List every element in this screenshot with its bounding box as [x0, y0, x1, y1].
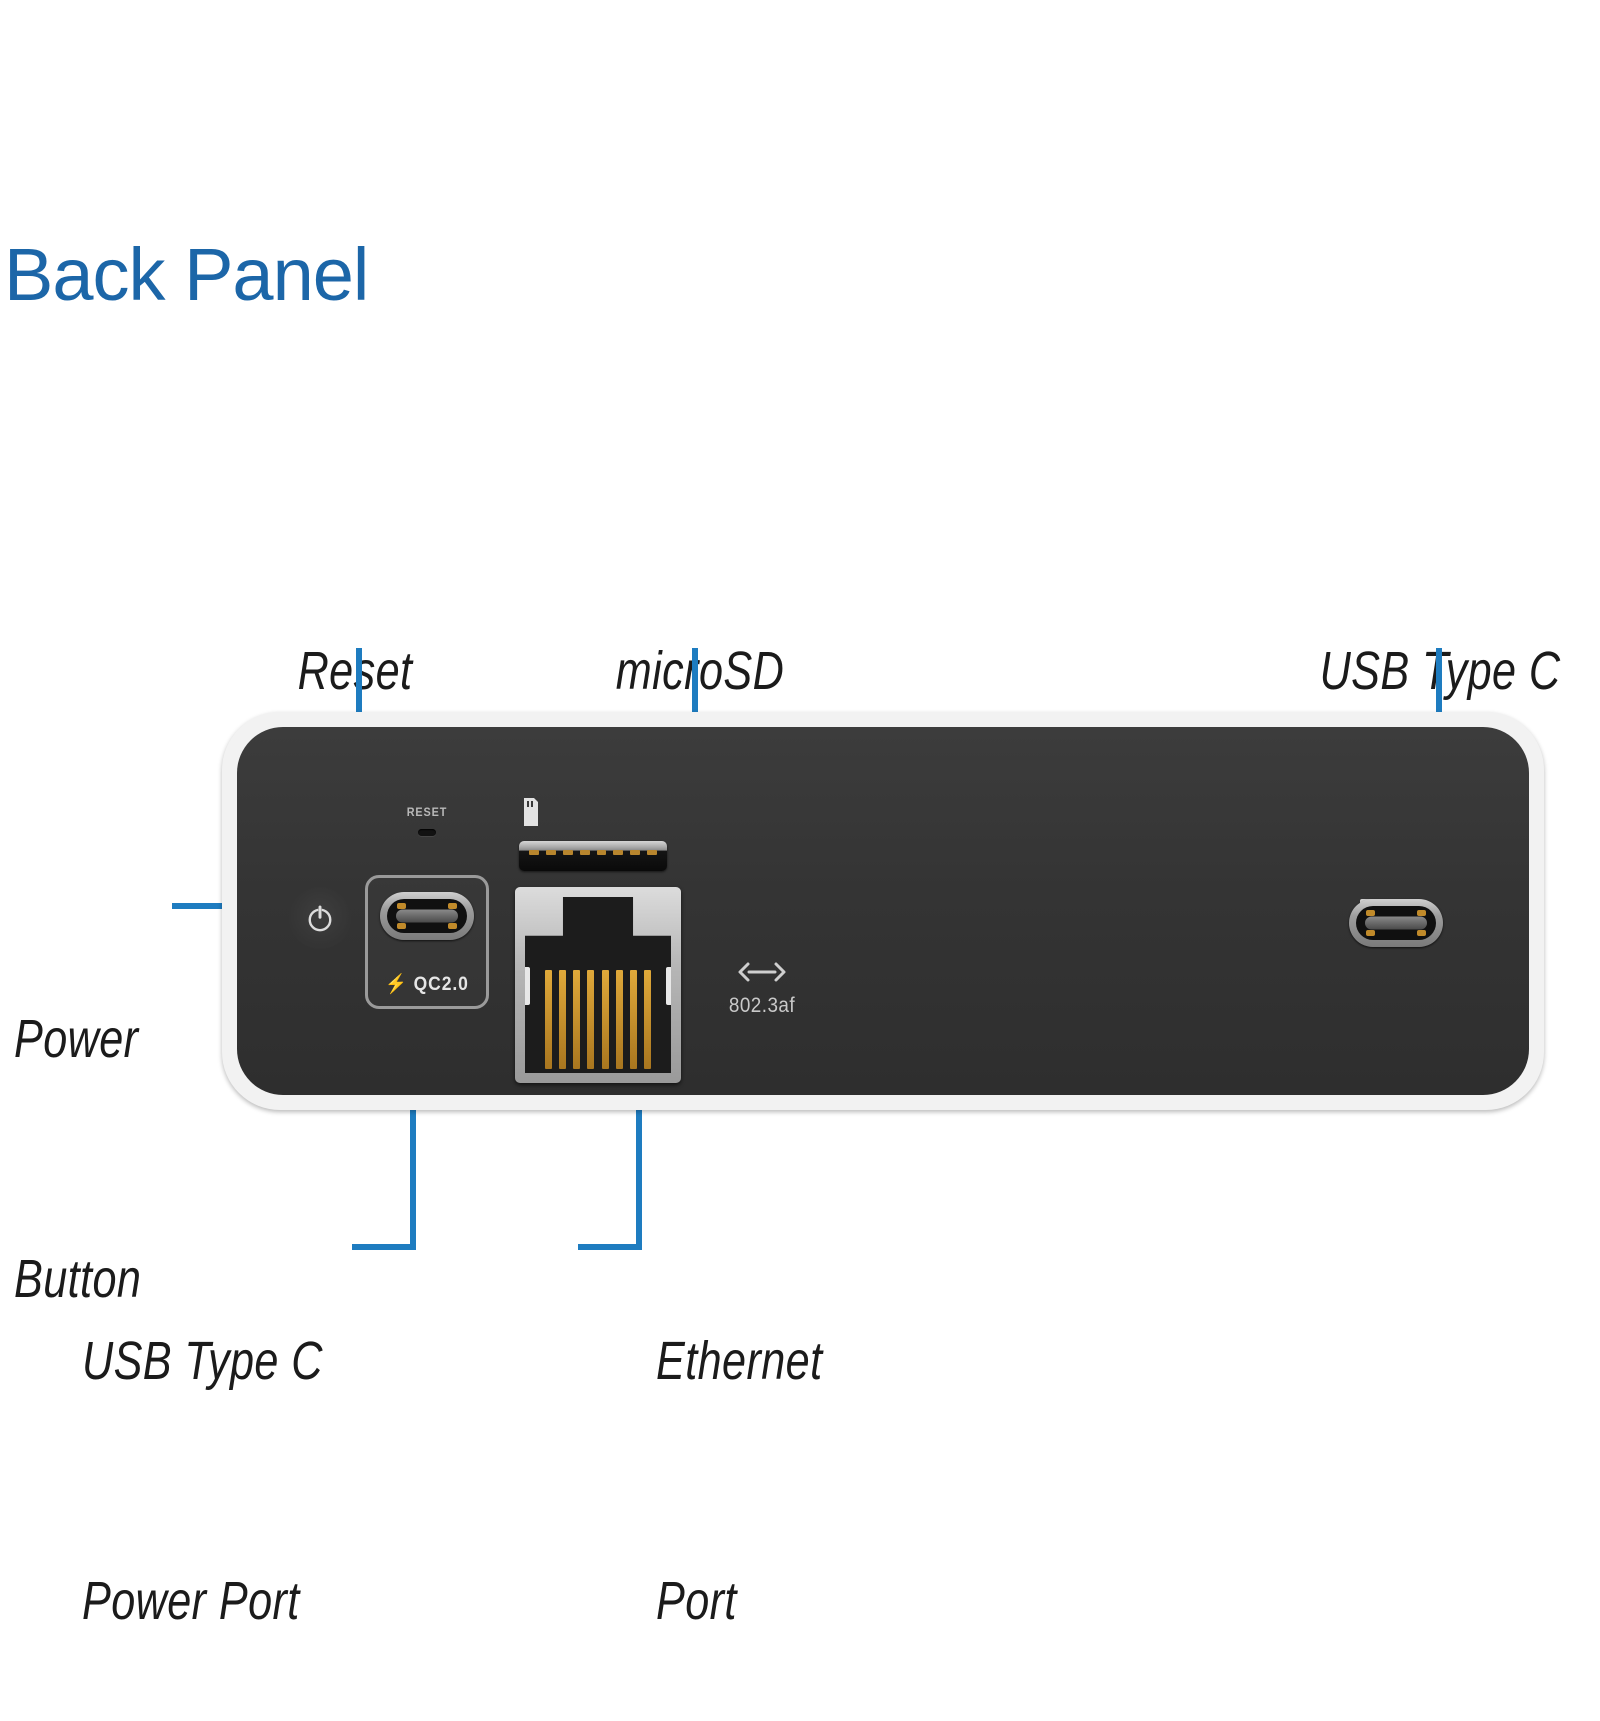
- usb-c-pin: [448, 923, 457, 929]
- usb-c-pin: [448, 903, 457, 909]
- callout-microsd-slot-line1: microSD: [564, 632, 836, 712]
- rj45-clip-notch: [521, 967, 530, 1005]
- device-back-panel: RESET ⚡ QC2.0: [222, 712, 1544, 1110]
- usb-c-tongue: [396, 910, 458, 923]
- rj45-contact-pins: [545, 970, 650, 1069]
- leader-line-usb-c-power-horizontal: [352, 1244, 416, 1250]
- rj45-cavity: [525, 897, 671, 1073]
- usb-c-pin: [1417, 930, 1426, 936]
- usb-c-data-shell: [1349, 899, 1443, 947]
- usb-c-power-port[interactable]: ⚡ QC2.0: [365, 875, 489, 1009]
- callout-reset-button-line1: Reset: [223, 632, 487, 712]
- callout-ethernet-port-line1: Ethernet: [656, 1322, 960, 1402]
- microsd-slot[interactable]: [519, 841, 667, 871]
- usb-c-power-marking: ⚡ QC2.0: [373, 972, 482, 996]
- poe-marking-group: 802.3af: [707, 959, 817, 1018]
- reset-group: RESET: [392, 805, 462, 836]
- reset-pinhole[interactable]: [418, 829, 436, 836]
- bidirectional-arrow-icon: [735, 959, 789, 985]
- usb-c-power-cavity: [387, 899, 467, 933]
- usb-c-pin: [1417, 910, 1426, 916]
- usb-c-power-shell: [380, 892, 474, 940]
- power-icon: [305, 903, 335, 933]
- usb-c-data-cavity: [1356, 906, 1436, 940]
- usb-c-pin: [1366, 930, 1375, 936]
- usb-c-pin: [1366, 910, 1375, 916]
- callout-ethernet-port: Ethernet Port: [656, 1162, 960, 1721]
- callout-usb-c-power-port-line2: Power Port: [82, 1562, 418, 1642]
- usb-c-tongue: [1365, 917, 1427, 930]
- reset-label: RESET: [396, 805, 459, 819]
- rj45-clip-notch: [666, 967, 675, 1005]
- microsd-slot-group[interactable]: [519, 797, 667, 871]
- page-title: Back Panel: [4, 238, 368, 312]
- callout-ethernet-port-line2: Port: [656, 1562, 960, 1642]
- sd-card-icon: [519, 797, 539, 827]
- poe-standard-label: 802.3af: [713, 994, 812, 1018]
- callout-usb-c-power-port-line1: USB Type C: [82, 1322, 418, 1402]
- leader-line-ethernet-horizontal: [578, 1244, 642, 1250]
- microsd-contacts: [529, 850, 657, 855]
- usb-c-data-port[interactable]: [1331, 885, 1461, 930]
- device-body: RESET ⚡ QC2.0: [237, 727, 1529, 1095]
- usb-c-pin: [397, 903, 406, 909]
- power-button[interactable]: [289, 887, 351, 949]
- usb-c-pin: [397, 923, 406, 929]
- ethernet-port[interactable]: [515, 887, 681, 1083]
